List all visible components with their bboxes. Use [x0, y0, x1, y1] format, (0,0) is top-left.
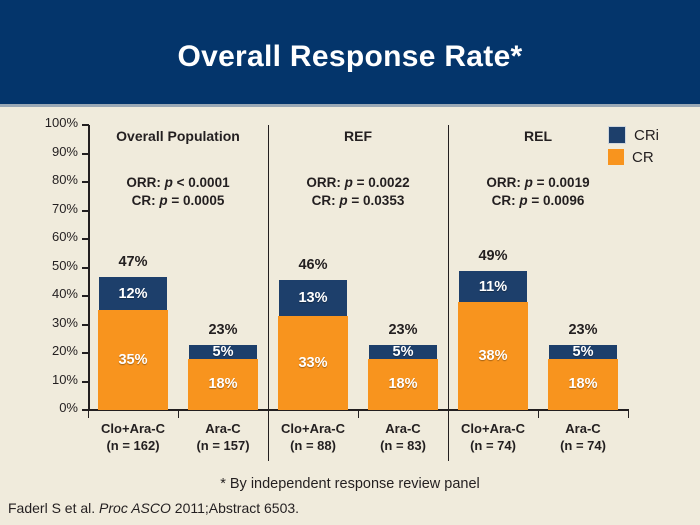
group-pvalues: ORR: p = 0.0019CR: p = 0.0096	[448, 174, 628, 210]
y-axis-tick-label: 70%	[52, 201, 78, 216]
x-axis-label-n: (n = 157)	[178, 437, 268, 454]
stacked-bar[interactable]: 11%38%	[458, 270, 528, 410]
orr-pvalue: ORR: p = 0.0019	[448, 174, 628, 192]
citation-journal: Proc ASCO	[99, 500, 171, 516]
y-axis-tick-label: 0%	[59, 400, 78, 415]
bar-segment-cri[interactable]: 5%	[548, 344, 618, 358]
x-axis-label-arm: Clo+Ara-C	[448, 420, 538, 437]
cr-pvalue: CR: p = 0.0096	[448, 192, 628, 210]
orr-pvalue: ORR: p < 0.0001	[88, 174, 268, 192]
bar-segment-cri-label: 11%	[479, 279, 507, 295]
citation-footnote: Faderl S et al. Proc ASCO 2011;Abstract …	[8, 500, 299, 516]
bar-segment-cr-label: 18%	[208, 376, 237, 392]
x-axis-label-arm: Ara-C	[358, 420, 448, 437]
cr-pvalue: CR: p = 0.0353	[268, 192, 448, 210]
y-axis-tick-label: 50%	[52, 258, 78, 273]
stacked-bar[interactable]: 5%18%	[188, 344, 258, 410]
x-axis-tick-mark	[358, 410, 359, 418]
y-axis-tick-label: 10%	[52, 372, 78, 387]
legend-label: CRi	[634, 127, 659, 144]
stacked-bar[interactable]: 13%33%	[278, 279, 348, 410]
bar-segment-cri[interactable]: 5%	[368, 344, 438, 358]
bar-total-label: 23%	[178, 322, 268, 338]
legend-item[interactable]: CRi	[608, 124, 659, 146]
bar-segment-cr-label: 38%	[478, 348, 507, 364]
bar-segment-cr-label: 35%	[118, 352, 147, 368]
stacked-bar[interactable]: 12%35%	[98, 276, 168, 410]
citation-author: Faderl S et al.	[8, 500, 99, 516]
bar-total-label: 23%	[538, 322, 628, 338]
x-axis-label-n: (n = 74)	[448, 437, 538, 454]
bar-segment-cri-label: 5%	[393, 344, 414, 360]
x-axis-tick-mark	[88, 410, 89, 418]
x-axis-label-arm: Ara-C	[538, 420, 628, 437]
x-axis-label-arm: Clo+Ara-C	[88, 420, 178, 437]
bar-segment-cr[interactable]: 33%	[278, 316, 348, 410]
x-axis-label: Ara-C(n = 74)	[538, 420, 628, 454]
title-band-divider	[0, 104, 700, 107]
bar-segment-cri-label: 5%	[573, 344, 594, 360]
x-axis-label-arm: Ara-C	[178, 420, 268, 437]
x-axis-label-n: (n = 83)	[358, 437, 448, 454]
bar-segment-cr-label: 18%	[388, 376, 417, 392]
citation-rest: 2011;Abstract 6503.	[171, 500, 299, 516]
group-pvalues: ORR: p = 0.0022CR: p = 0.0353	[268, 174, 448, 210]
bar-segment-cri[interactable]: 11%	[458, 270, 528, 301]
legend-item[interactable]: CR	[608, 146, 659, 168]
x-axis-tick-mark	[538, 410, 539, 418]
bar-segment-cr[interactable]: 18%	[188, 359, 258, 410]
bar-segment-cri[interactable]: 5%	[188, 344, 258, 358]
y-axis-tick-label: 90%	[52, 144, 78, 159]
asterisk-footnote: * By independent response review panel	[0, 476, 700, 492]
legend-swatch-cr	[608, 149, 624, 165]
bar-segment-cri-label: 13%	[298, 290, 327, 306]
bar-total-label: 46%	[268, 257, 358, 273]
bar-segment-cr-label: 18%	[568, 376, 597, 392]
x-axis-label-n: (n = 74)	[538, 437, 628, 454]
x-axis-label: Clo+Ara-C(n = 162)	[88, 420, 178, 454]
stacked-bar[interactable]: 5%18%	[368, 344, 438, 410]
x-axis-label: Clo+Ara-C(n = 88)	[268, 420, 358, 454]
x-axis-label: Clo+Ara-C(n = 74)	[448, 420, 538, 454]
group-title: REF	[268, 128, 448, 144]
cr-pvalue: CR: p = 0.0005	[88, 192, 268, 210]
y-axis-tick-label: 40%	[52, 286, 78, 301]
x-axis-label-n: (n = 162)	[88, 437, 178, 454]
x-axis-tick-mark	[178, 410, 179, 418]
bar-segment-cr[interactable]: 18%	[548, 359, 618, 410]
bar-segment-cr[interactable]: 18%	[368, 359, 438, 410]
stacked-bar[interactable]: 5%18%	[548, 344, 618, 410]
bar-segment-cr-label: 33%	[298, 355, 327, 371]
group-pvalues: ORR: p < 0.0001CR: p = 0.0005	[88, 174, 268, 210]
bar-segment-cri[interactable]: 13%	[278, 279, 348, 316]
bar-segment-cri-label: 12%	[118, 286, 147, 302]
y-axis-tick-label: 60%	[52, 229, 78, 244]
y-axis-tick-label: 80%	[52, 172, 78, 187]
group-title: REL	[448, 128, 628, 144]
y-axis-tick-label: 30%	[52, 315, 78, 330]
y-axis-tick-label: 100%	[45, 115, 78, 130]
group-title: Overall Population	[88, 128, 268, 144]
legend-label: CR	[632, 149, 654, 166]
x-axis-label-n: (n = 88)	[268, 437, 358, 454]
y-axis-tick-label: 20%	[52, 343, 78, 358]
chart-legend: CRiCR	[608, 124, 659, 168]
x-axis-tick-mark	[628, 410, 629, 418]
orr-pvalue: ORR: p = 0.0022	[268, 174, 448, 192]
page-title: Overall Response Rate*	[0, 40, 700, 74]
bar-segment-cri-label: 5%	[213, 344, 234, 360]
legend-swatch-cri	[608, 126, 626, 144]
slide-root: Overall Response Rate* 100%90%80%70%60%5…	[0, 0, 700, 525]
x-axis-label: Ara-C(n = 157)	[178, 420, 268, 454]
x-axis-label: Ara-C(n = 83)	[358, 420, 448, 454]
bar-segment-cr[interactable]: 35%	[98, 310, 168, 410]
bar-total-label: 47%	[88, 254, 178, 270]
bar-segment-cr[interactable]: 38%	[458, 302, 528, 410]
bar-total-label: 23%	[358, 322, 448, 338]
x-axis-label-arm: Clo+Ara-C	[268, 420, 358, 437]
bar-segment-cri[interactable]: 12%	[98, 276, 168, 310]
bar-total-label: 49%	[448, 248, 538, 264]
